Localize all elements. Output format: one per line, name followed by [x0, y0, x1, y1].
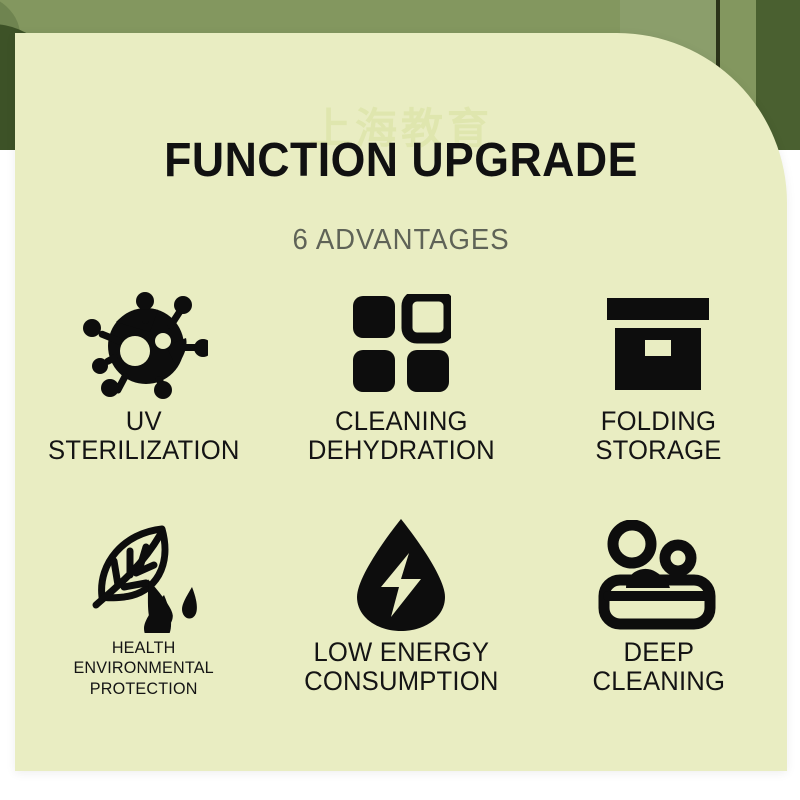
feature-cleaning-dehydration[interactable]: CLEANING DEHYDRATION: [272, 281, 529, 512]
leaf-droplet-icon: [80, 512, 208, 638]
grid-squares-icon: [351, 281, 451, 407]
infographic-root: 上海教育 FUNCTION UPGRADE 6 ADVANTAGES: [0, 0, 800, 800]
page-subtitle: 6 ADVANTAGES: [34, 224, 767, 257]
features-grid: UV STERILIZATION CLEANING DEHYDRATION: [15, 281, 787, 743]
feature-label: FOLDING STORAGE: [595, 407, 721, 465]
virus-germ-icon: [80, 281, 208, 407]
feature-low-energy-consumption[interactable]: LOW ENERGY CONSUMPTION: [272, 512, 529, 743]
storage-box-icon: [603, 281, 713, 407]
feature-label: DEEP CLEANING: [592, 638, 725, 696]
droplet-bolt-icon: [353, 512, 449, 638]
feature-uv-sterilization[interactable]: UV STERILIZATION: [15, 281, 272, 512]
feature-label: LOW ENERGY CONSUMPTION: [304, 638, 498, 696]
feature-label: CLEANING DEHYDRATION: [308, 407, 495, 465]
feature-deep-cleaning[interactable]: DEEP CLEANING: [530, 512, 787, 743]
soap-bubbles-icon: [598, 512, 718, 638]
feature-label: UV STERILIZATION: [48, 407, 240, 465]
feature-health-environmental-protection[interactable]: HEALTH ENVIRONMENTAL PROTECTION: [15, 512, 272, 743]
feature-folding-storage: FOLDING STORAGE: [530, 281, 787, 512]
page-title: FUNCTION UPGRADE: [42, 133, 760, 188]
feature-label: HEALTH ENVIRONMENTAL PROTECTION: [21, 638, 265, 699]
feature-card: 上海教育 FUNCTION UPGRADE 6 ADVANTAGES: [15, 33, 787, 771]
